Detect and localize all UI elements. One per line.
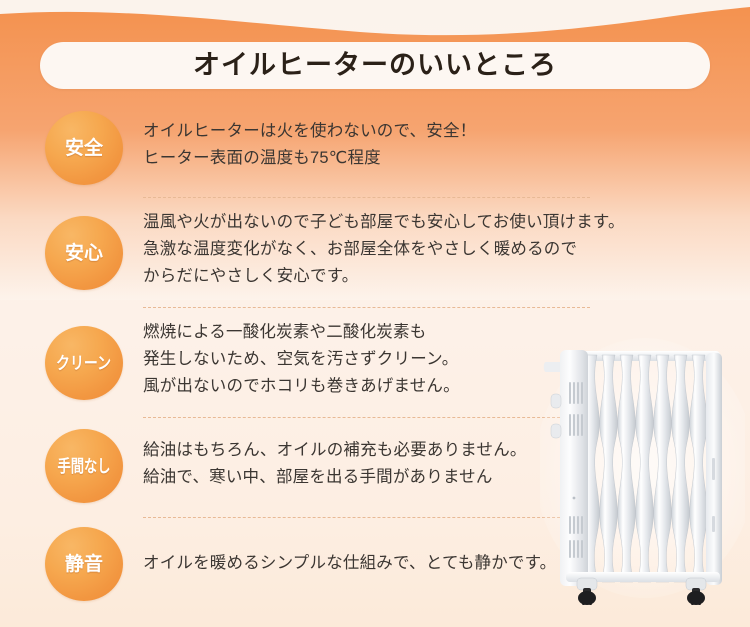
benefit-line: オイルヒーターは火を使わないので、安全！ — [143, 118, 613, 145]
list-item: 安心 温風や火が出ないので子ども部屋でも安心してお使い頂けます。 急激な温度変化… — [0, 197, 750, 307]
badge-safety: 安全 — [45, 111, 123, 185]
badge-label: 安心 — [65, 244, 103, 263]
badge-label: 静音 — [65, 555, 103, 574]
list-item: 安全 オイルヒーターは火を使わないので、安全！ ヒーター表面の温度も75℃程度 — [0, 100, 750, 197]
benefit-text-block: オイルヒーターは火を使わないので、安全！ ヒーター表面の温度も75℃程度 — [143, 118, 613, 172]
badge-label: クリーン — [56, 355, 111, 372]
infographic-canvas: オイルヒーターのいいところ 安全 オイルヒーターは火を使わないので、安全！ ヒー… — [0, 0, 750, 627]
benefit-line: からだにやさしく安心です。 — [143, 263, 613, 290]
page-title: オイルヒーターのいいところ — [193, 52, 557, 79]
badge-label: 手間なし — [57, 458, 110, 475]
badge-no-hassle: 手間なし — [45, 429, 123, 503]
badge-quiet: 静音 — [45, 527, 123, 601]
page-title-pill: オイルヒーターのいいところ — [40, 42, 710, 89]
benefit-text-block: 温風や火が出ないので子ども部屋でも安心してお使い頂けます。 急激な温度変化がなく… — [143, 209, 613, 290]
benefit-line: ヒーター表面の温度も75℃程度 — [143, 145, 613, 172]
badge-reassurance: 安心 — [45, 216, 123, 290]
badge-clean: クリーン — [45, 326, 123, 400]
oil-heater-product-image — [540, 338, 745, 606]
benefit-line: 温風や火が出ないので子ども部屋でも安心してお使い頂けます。 — [143, 209, 613, 236]
benefit-line: 急激な温度変化がなく、お部屋全体をやさしく暖めるので — [143, 236, 613, 263]
badge-label: 安全 — [65, 139, 103, 158]
